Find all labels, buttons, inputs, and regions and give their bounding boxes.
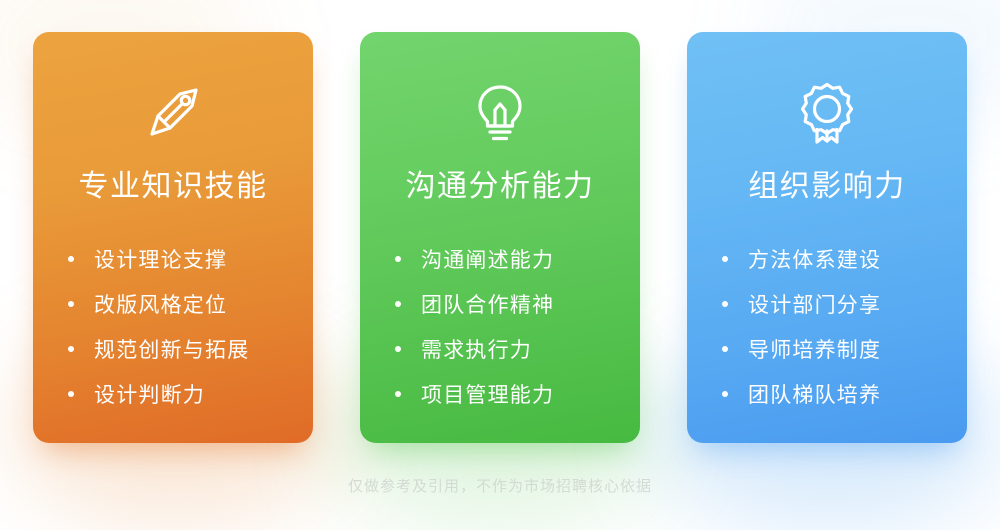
lightbulb-icon — [471, 76, 529, 150]
footnote-disclaimer: 仅做参考及引用，不作为市场招聘核心依据 — [0, 475, 1000, 496]
pen-nib-icon — [142, 76, 204, 150]
card-communication-analysis-ability[interactable]: 沟通分析能力 沟通阐述能力 团队合作精神 需求执行力 项目管理能力 — [360, 32, 640, 443]
award-medal-icon — [797, 76, 857, 150]
list-item[interactable]: 团队梯队培养 — [722, 371, 932, 416]
card-group: 专业知识技能 设计理论支撑 改版风格定位 规范创新与拓展 设计判断力 — [33, 32, 967, 443]
bullet-icon — [722, 346, 728, 352]
list-item[interactable]: 改版风格定位 — [68, 281, 278, 326]
list-item[interactable]: 规范创新与拓展 — [68, 326, 278, 371]
list-item-label: 方法体系建设 — [748, 244, 881, 274]
card-item-list: 方法体系建设 设计部门分享 导师培养制度 团队梯队培养 — [687, 236, 967, 416]
list-item-label: 导师培养制度 — [748, 334, 881, 364]
bullet-icon — [395, 391, 401, 397]
bullet-icon — [722, 391, 728, 397]
list-item-label: 项目管理能力 — [421, 379, 554, 409]
bullet-icon — [722, 301, 728, 307]
card-organizational-influence[interactable]: 组织影响力 方法体系建设 设计部门分享 导师培养制度 团队梯队培养 — [687, 32, 967, 443]
competency-board: 专业知识技能 设计理论支撑 改版风格定位 规范创新与拓展 设计判断力 — [0, 0, 1000, 522]
bullet-icon — [395, 301, 401, 307]
list-item-label: 规范创新与拓展 — [94, 334, 249, 364]
card-title: 沟通分析能力 — [406, 172, 595, 202]
list-item[interactable]: 导师培养制度 — [722, 326, 932, 371]
list-item[interactable]: 沟通阐述能力 — [395, 236, 605, 281]
list-item[interactable]: 方法体系建设 — [722, 236, 932, 281]
list-item[interactable]: 项目管理能力 — [395, 371, 605, 416]
list-item-label: 需求执行力 — [421, 334, 532, 364]
card-item-list: 沟通阐述能力 团队合作精神 需求执行力 项目管理能力 — [360, 236, 640, 416]
list-item-label: 团队梯队培养 — [748, 379, 881, 409]
list-item[interactable]: 团队合作精神 — [395, 281, 605, 326]
bullet-icon — [68, 256, 74, 262]
bullet-icon — [68, 301, 74, 307]
list-item-label: 沟通阐述能力 — [421, 244, 554, 274]
list-item[interactable]: 设计理论支撑 — [68, 236, 278, 281]
bullet-icon — [68, 346, 74, 352]
list-item-label: 团队合作精神 — [421, 289, 554, 319]
bullet-icon — [68, 391, 74, 397]
bullet-icon — [722, 256, 728, 262]
list-item-label: 改版风格定位 — [94, 289, 227, 319]
bullet-icon — [395, 256, 401, 262]
list-item[interactable]: 需求执行力 — [395, 326, 605, 371]
card-professional-knowledge-skills[interactable]: 专业知识技能 设计理论支撑 改版风格定位 规范创新与拓展 设计判断力 — [33, 32, 313, 443]
card-title: 专业知识技能 — [79, 172, 268, 202]
list-item-label: 设计部门分享 — [748, 289, 881, 319]
list-item-label: 设计判断力 — [94, 379, 205, 409]
card-item-list: 设计理论支撑 改版风格定位 规范创新与拓展 设计判断力 — [33, 236, 313, 416]
list-item[interactable]: 设计判断力 — [68, 371, 278, 416]
list-item-label: 设计理论支撑 — [94, 244, 227, 274]
bullet-icon — [395, 346, 401, 352]
list-item[interactable]: 设计部门分享 — [722, 281, 932, 326]
card-title: 组织影响力 — [748, 172, 906, 202]
